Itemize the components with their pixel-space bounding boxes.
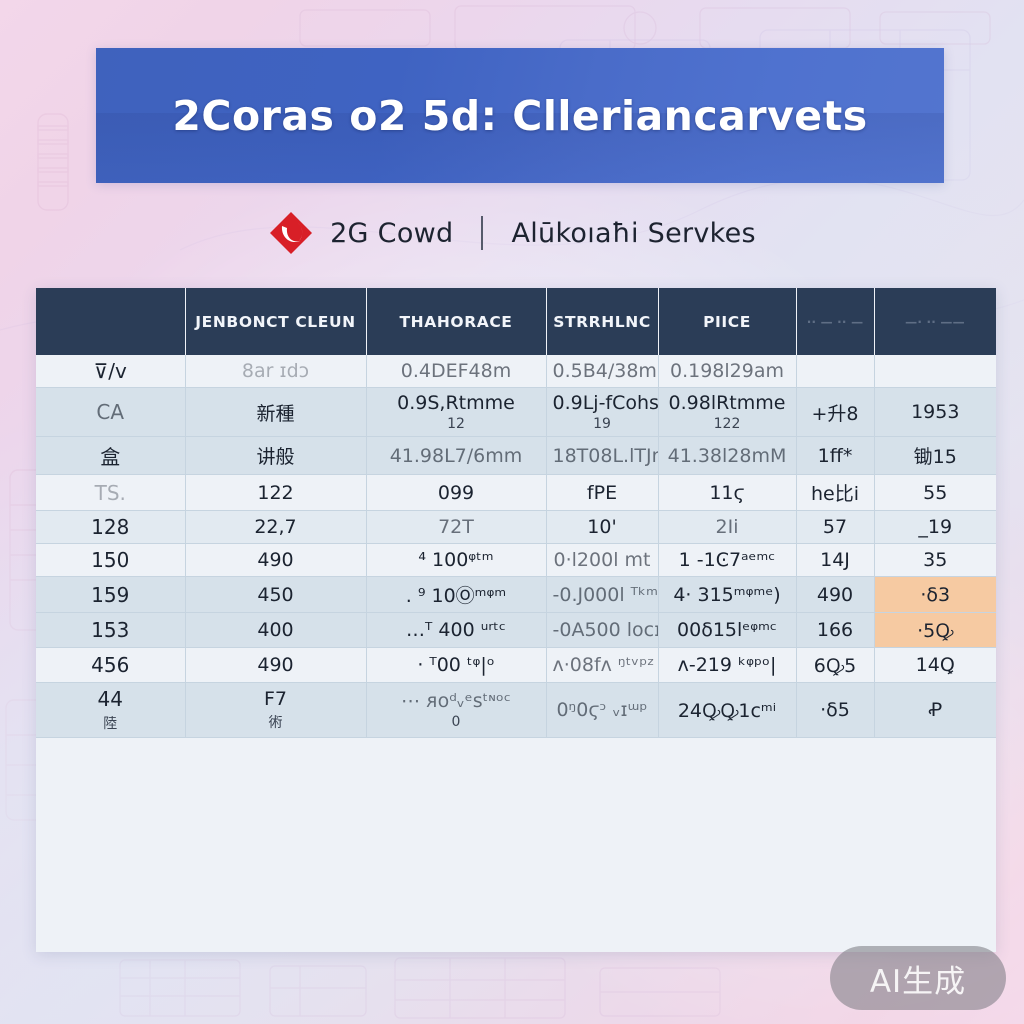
- table-row[interactable]: 盒讲般41.98L7/6mm18T08L.lTJnac41.38l28mM1ff…: [36, 437, 996, 475]
- cell-value: 盒: [100, 445, 120, 469]
- cell-value: ·5Ꝙ: [917, 620, 953, 642]
- table-row[interactable]: 44陸Ϝ7術⋯ ᴙoᵈᵥᵉsᵗᶰᵒᶜ00ᵑ0ϛᵓ ᵥɪᵚᵖ24ꝘꝘ1cᵐⁱ·δ5…: [36, 683, 996, 738]
- cell-value: 讲般: [256, 446, 294, 468]
- table-cell-r1-c4: 0.98lRtmme122: [658, 388, 796, 437]
- table-cell-r5-c4: 1 -1Ͼ7ᵃᵉᵐᶜ: [658, 544, 796, 577]
- cell-value: 122: [257, 482, 293, 504]
- table-cell-r9-c0: 44陸: [36, 683, 185, 738]
- column-header-5[interactable]: ·· — ·· —: [796, 288, 874, 355]
- table-cell-r4-c2: 72T: [366, 511, 546, 544]
- brand-name: 2G Cowd: [330, 218, 453, 249]
- table-cell-r0-c0: ⊽/v: [36, 355, 185, 388]
- cell-value: 150: [91, 548, 129, 572]
- table-cell-r4-c4: 2Ii: [658, 511, 796, 544]
- cell-value: he比i: [811, 483, 859, 505]
- cell-value: 128: [91, 515, 129, 539]
- table-cell-r7-c4: 00δ15lᵉᵠᵐᶜ: [658, 613, 796, 648]
- table-cell-r2-c1: 讲般: [185, 437, 366, 475]
- cell-value: CA: [96, 400, 124, 424]
- cell-subvalue: 0: [373, 714, 540, 730]
- table-cell-r5-c1: 490: [185, 544, 366, 577]
- table-cell-r0-c6: [874, 355, 996, 388]
- table-cell-r4-c3: 10': [546, 511, 658, 544]
- table-cell-r8-c2: · ᵀ00 ᵗᵠ|ᵒ: [366, 648, 546, 683]
- page-title: 2Coras o2 5d: Clleriancarvets: [96, 92, 944, 140]
- table-cell-r3-c4: 11ϛ: [658, 475, 796, 511]
- brand-bar: 2G Cowd Alūkoıaħi Servkes: [0, 205, 1024, 261]
- cell-value: 00δ15lᵉᵠᵐᶜ: [677, 619, 777, 641]
- table-cell-r2-c4: 41.38l28mM: [658, 437, 796, 475]
- brand-separator: [481, 216, 483, 250]
- table-cell-r4-c0: 128: [36, 511, 185, 544]
- cell-value: 14J: [820, 549, 850, 571]
- cell-value: 1953: [911, 401, 959, 423]
- cell-subvalue: 12: [373, 416, 540, 432]
- table-cell-r5-c5: 14J: [796, 544, 874, 577]
- column-header-3[interactable]: STRRHLNC: [546, 288, 658, 355]
- cell-value: 159: [91, 583, 129, 607]
- table-cell-r9-c6: Ꝓ: [874, 683, 996, 738]
- table-cell-r9-c1: Ϝ7術: [185, 683, 366, 738]
- column-header-0[interactable]: [36, 288, 185, 355]
- cell-value: 1 -1Ͼ7ᵃᵉᵐᶜ: [679, 549, 776, 571]
- cell-subvalue: 術: [192, 712, 360, 732]
- cell-value: 0.5B4/38m: [553, 360, 657, 382]
- table-head: JENBONCT CLEUN THAHORACE STRRHLNC PIICE …: [36, 288, 996, 355]
- table-cell-r3-c5: he比i: [796, 475, 874, 511]
- table-cell-r8-c0: 456: [36, 648, 185, 683]
- cell-value: 55: [923, 482, 947, 504]
- table-cell-r3-c3: fPE: [546, 475, 658, 511]
- cell-subvalue: 19: [553, 416, 652, 432]
- table-cell-r6-c5: 490: [796, 577, 874, 613]
- cell-value: 2Ii: [716, 516, 739, 538]
- table-row[interactable]: TS.122099fPE11ϛhe比i55: [36, 475, 996, 511]
- table-row[interactable]: CA新種0.9S,Rtmme120.9Lj-fCohs190.98lRtmme1…: [36, 388, 996, 437]
- cell-value: 450: [257, 584, 293, 606]
- table-cell-r0-c2: 0.4DEF48m: [366, 355, 546, 388]
- table-cell-r1-c3: 0.9Lj-fCohs19: [546, 388, 658, 437]
- cell-value: 锄15: [914, 446, 957, 468]
- table-cell-r9-c3: 0ᵑ0ϛᵓ ᵥɪᵚᵖ: [546, 683, 658, 738]
- table-cell-r1-c6: 1953: [874, 388, 996, 437]
- cell-value: · ᵀ00 ᵗᵠ|ᵒ: [417, 654, 494, 676]
- table-cell-r7-c1: 400: [185, 613, 366, 648]
- cell-value: 14Ꝗ: [916, 654, 955, 676]
- cell-value: 35: [923, 549, 947, 571]
- cell-value: fPE: [587, 482, 617, 504]
- table-cell-r9-c2: ⋯ ᴙoᵈᵥᵉsᵗᶰᵒᶜ0: [366, 683, 546, 738]
- table-cell-r1-c0: CA: [36, 388, 185, 437]
- cell-value: 0.98lRtmme: [669, 392, 786, 414]
- table-body: ⊽/v8ar ɪdɔ0.4DEF48m0.5B4/38m0.198l29amCA…: [36, 355, 996, 738]
- cell-value: 44: [98, 687, 123, 711]
- table-cell-r5-c0: 150: [36, 544, 185, 577]
- table-cell-r6-c2: . ⁹ 10Ⓞᵐᵠᵐ: [366, 577, 546, 613]
- ai-generated-watermark: AI生成: [830, 946, 1006, 1010]
- title-banner: 2Coras o2 5d: Clleriancarvets: [96, 48, 944, 183]
- cell-value: -0.J000l ᵀᵏᵐ: [553, 584, 658, 606]
- cell-value: 11ϛ: [709, 482, 744, 504]
- cell-value: ⋯ ᴙoᵈᵥᵉsᵗᶰᵒᶜ: [401, 690, 511, 712]
- cell-value: 4· 315ᵐᵠᵐᵉ): [673, 584, 780, 606]
- cell-value: 099: [438, 482, 474, 504]
- cell-value: . ⁹ 10Ⓞᵐᵠᵐ: [406, 585, 506, 607]
- cell-value: +升8: [811, 403, 858, 425]
- table-cell-r8-c3: ʌ·08fʌ ᵑᵗᵛᵖᶻ: [546, 648, 658, 683]
- brand-subtitle: Alūkoıaħi Servkes: [511, 218, 755, 249]
- cell-value: _19: [918, 516, 952, 538]
- table-row[interactable]: ⊽/v8ar ɪdɔ0.4DEF48m0.5B4/38m0.198l29am: [36, 355, 996, 388]
- table-cell-r3-c0: TS.: [36, 475, 185, 511]
- cell-value: ⊽/v: [94, 359, 127, 383]
- table-cell-r2-c2: 41.98L7/6mm: [366, 437, 546, 475]
- table-cell-r5-c6: 35: [874, 544, 996, 577]
- cell-value: 41.98L7/6mm: [390, 445, 523, 467]
- header-row: JENBONCT CLEUN THAHORACE STRRHLNC PIICE …: [36, 288, 996, 355]
- watermark-label: AI生成: [870, 956, 966, 1001]
- column-header-1[interactable]: JENBONCT CLEUN: [185, 288, 366, 355]
- cell-value: 72T: [438, 516, 474, 538]
- table-cell-r5-c2: ⁴ 100ᵠᵗᵐ: [366, 544, 546, 577]
- cell-value: Ꝓ: [928, 699, 942, 721]
- cell-value: 0ᵑ0ϛᵓ ᵥɪᵚᵖ: [556, 699, 647, 721]
- cell-value: 6Ꝙ5: [814, 655, 856, 677]
- cell-value: -0A500 locɪ: [553, 619, 659, 641]
- cell-value: ʌ-219 ᵏᵠᵖᵒ|: [678, 654, 777, 676]
- table-cell-r7-c0: 153: [36, 613, 185, 648]
- table-cell-r6-c3: -0.J000l ᵀᵏᵐ: [546, 577, 658, 613]
- table-cell-r0-c5: [796, 355, 874, 388]
- table-cell-r3-c1: 122: [185, 475, 366, 511]
- table-cell-r7-c2: …ᵀ 400 ᵘʳᵗᶜ: [366, 613, 546, 648]
- cell-subvalue: 122: [665, 416, 790, 432]
- cell-value: ·δ3: [920, 584, 950, 606]
- cell-value: ⁴ 100ᵠᵗᵐ: [418, 549, 493, 571]
- cell-value: 166: [817, 619, 853, 641]
- table-cell-r3-c6: 55: [874, 475, 996, 511]
- table-cell-r7-c5: 166: [796, 613, 874, 648]
- cell-value: 0.198l29am: [670, 360, 784, 382]
- cell-value: 24ꝘꝘ1cᵐⁱ: [678, 700, 776, 722]
- table-cell-r0-c4: 0.198l29am: [658, 355, 796, 388]
- column-header-6[interactable]: —· ·· ——: [874, 288, 996, 355]
- comparison-table: JENBONCT CLEUN THAHORACE STRRHLNC PIICE …: [36, 288, 996, 738]
- table-row[interactable]: 150490⁴ 100ᵠᵗᵐ0·l200l mt1 -1Ͼ7ᵃᵉᵐᶜ14J35: [36, 544, 996, 577]
- cell-value: 1ff*: [818, 445, 853, 467]
- table-cell-r5-c3: 0·l200l mt: [546, 544, 658, 577]
- cell-value: 18T08L.lTJnac: [553, 445, 659, 467]
- table-row[interactable]: 456490· ᵀ00 ᵗᵠ|ᵒʌ·08fʌ ᵑᵗᵛᵖᶻʌ-219 ᵏᵠᵖᵒ|6…: [36, 648, 996, 683]
- cell-value: 0·l200l mt: [554, 549, 651, 571]
- table-cell-r8-c4: ʌ-219 ᵏᵠᵖᵒ|: [658, 648, 796, 683]
- table-cell-r2-c6: 锄15: [874, 437, 996, 475]
- table-cell-r2-c3: 18T08L.lTJnac: [546, 437, 658, 475]
- table-cell-r6-c6: ·δ3: [874, 577, 996, 613]
- table-cell-r4-c5: 57: [796, 511, 874, 544]
- cell-value: 490: [817, 584, 853, 606]
- cell-value: Ϝ7: [264, 688, 287, 710]
- cell-value: 57: [823, 516, 847, 538]
- table-row[interactable]: 12822,772T10'2Ii57_19: [36, 511, 996, 544]
- cell-value: 400: [257, 619, 293, 641]
- cell-value: 490: [257, 654, 293, 676]
- table-cell-r1-c5: +升8: [796, 388, 874, 437]
- table-cell-r0-c1: 8ar ɪdɔ: [185, 355, 366, 388]
- cell-value: TS.: [95, 481, 126, 505]
- brand-logo-icon: [268, 210, 314, 256]
- table-cell-r9-c4: 24ꝘꝘ1cᵐⁱ: [658, 683, 796, 738]
- table-cell-r6-c1: 450: [185, 577, 366, 613]
- cell-value: 490: [257, 549, 293, 571]
- table-cell-r2-c5: 1ff*: [796, 437, 874, 475]
- table-cell-r1-c2: 0.9S,Rtmme12: [366, 388, 546, 437]
- table-cell-r7-c6: ·5Ꝙ: [874, 613, 996, 648]
- pricing-table: JENBONCT CLEUN THAHORACE STRRHLNC PIICE …: [36, 288, 996, 952]
- cell-value: 新種: [256, 403, 294, 425]
- cell-value: 41.38l28mM: [668, 445, 787, 467]
- table-cell-r2-c0: 盒: [36, 437, 185, 475]
- table-cell-r8-c5: 6Ꝙ5: [796, 648, 874, 683]
- table-cell-r1-c1: 新種: [185, 388, 366, 437]
- cell-value: 0.9S,Rtmme: [397, 392, 515, 414]
- table-cell-r4-c1: 22,7: [185, 511, 366, 544]
- column-header-4[interactable]: PIICE: [658, 288, 796, 355]
- cell-value: 10': [587, 516, 616, 538]
- table-cell-r6-c4: 4· 315ᵐᵠᵐᵉ): [658, 577, 796, 613]
- table-row[interactable]: 159450. ⁹ 10Ⓞᵐᵠᵐ-0.J000l ᵀᵏᵐ4· 315ᵐᵠᵐᵉ)4…: [36, 577, 996, 613]
- table-cell-r3-c2: 099: [366, 475, 546, 511]
- cell-value: 0.4DEF48m: [401, 360, 511, 382]
- cell-value: 153: [91, 618, 129, 642]
- cell-subvalue: 陸: [42, 713, 179, 733]
- cell-value: ·δ5: [820, 699, 850, 721]
- table-cell-r6-c0: 159: [36, 577, 185, 613]
- table-cell-r0-c3: 0.5B4/38m: [546, 355, 658, 388]
- table-cell-r8-c1: 490: [185, 648, 366, 683]
- cell-value: 22,7: [254, 516, 296, 538]
- table-cell-r7-c3: -0A500 locɪ: [546, 613, 658, 648]
- cell-value: …ᵀ 400 ᵘʳᵗᶜ: [406, 619, 506, 641]
- column-header-2[interactable]: THAHORACE: [366, 288, 546, 355]
- cell-value: ʌ·08fʌ ᵑᵗᵛᵖᶻ: [553, 654, 655, 676]
- table-cell-r8-c6: 14Ꝗ: [874, 648, 996, 683]
- cell-value: 0.9Lj-fCohs: [553, 392, 659, 414]
- table-cell-r9-c5: ·δ5: [796, 683, 874, 738]
- table-cell-r4-c6: _19: [874, 511, 996, 544]
- table-row[interactable]: 153400…ᵀ 400 ᵘʳᵗᶜ-0A500 locɪ00δ15lᵉᵠᵐᶜ16…: [36, 613, 996, 648]
- cell-value: 456: [91, 653, 129, 677]
- cell-value: 8ar ɪdɔ: [242, 360, 309, 382]
